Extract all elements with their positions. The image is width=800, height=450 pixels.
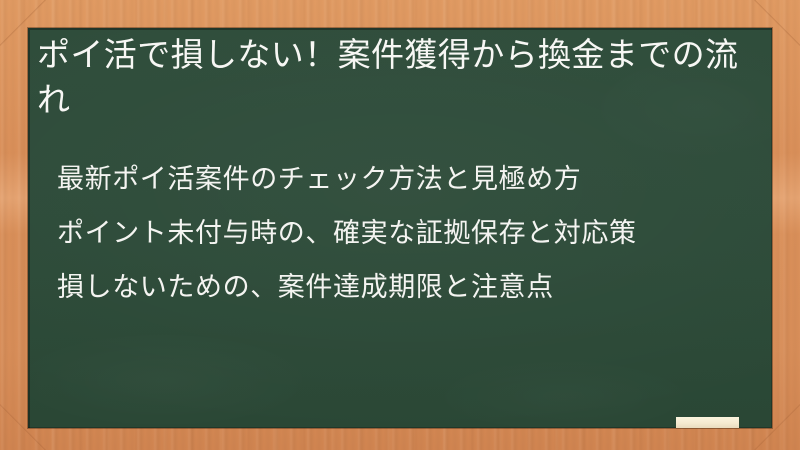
bullet-list: 最新ポイ活案件のチェック方法と見極め方 ポイント未付与時の、確実な証拠保存と対応… <box>57 152 757 314</box>
slide-title: ポイ活で損しない！案件獲得から換金までの流れ <box>37 32 757 122</box>
chalkboard-slide: ポイ活で損しない！案件獲得から換金までの流れ 最新ポイ活案件のチェック方法と見極… <box>0 0 800 450</box>
bullet-item: ポイント未付与時の、確実な証拠保存と対応策 <box>57 206 757 260</box>
bullet-item: 最新ポイ活案件のチェック方法と見極め方 <box>57 152 757 206</box>
board-content: ポイ活で損しない！案件獲得から換金までの流れ 最新ポイ活案件のチェック方法と見極… <box>28 28 772 428</box>
chalk-stick-icon <box>676 417 739 428</box>
bullet-item: 損しないための、案件達成期限と注意点 <box>57 260 757 314</box>
chalkboard-surface: ポイ活で損しない！案件獲得から換金までの流れ 最新ポイ活案件のチェック方法と見極… <box>28 28 772 428</box>
